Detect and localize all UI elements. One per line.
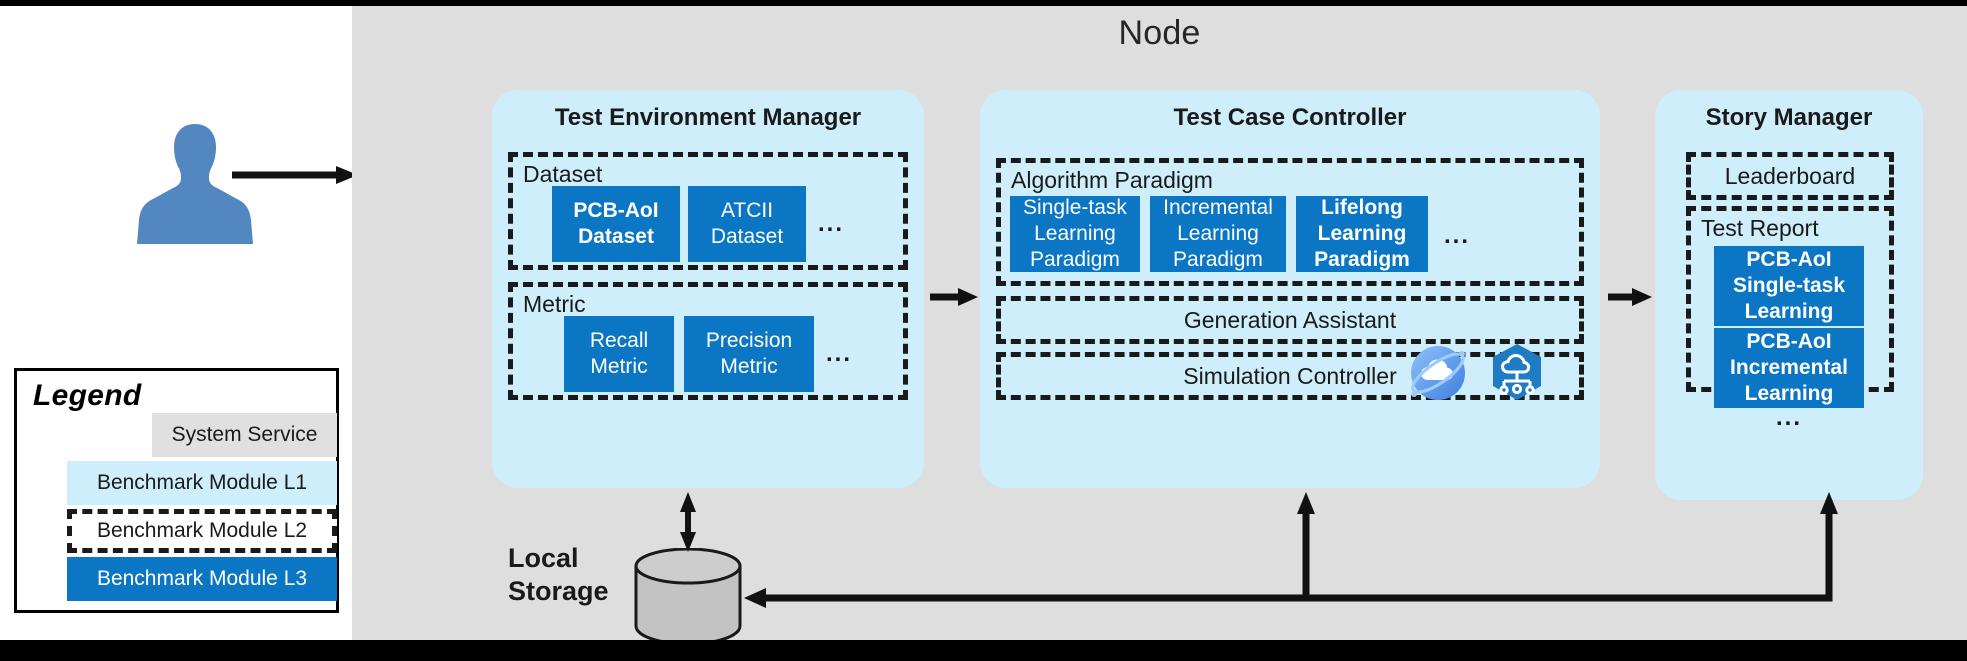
- legend-title: Legend: [33, 379, 141, 413]
- actor-panel-top-rule: [0, 0, 352, 6]
- user-to-node-arrow: [232, 165, 358, 185]
- module-test-case-controller[interactable]: Test Case Controller: [980, 90, 1600, 488]
- group-label: Dataset: [523, 161, 602, 188]
- legend-item-module-l2: Benchmark Module L2: [67, 509, 337, 553]
- group-label: Metric: [523, 291, 586, 318]
- chip-lifelong-learning-paradigm[interactable]: Lifelong Learning Paradigm: [1296, 196, 1428, 272]
- group-leaderboard[interactable]: Leaderboard: [1686, 152, 1894, 200]
- chip-incremental-learning-paradigm[interactable]: Incremental Learning Paradigm: [1150, 196, 1286, 272]
- chip-single-task-learning-paradigm[interactable]: Single-task Learning Paradigm: [1010, 196, 1140, 272]
- kubeedge-cloud-icon: [1408, 346, 1469, 400]
- legend-item-label: Benchmark Module L3: [97, 567, 307, 591]
- group-label: Leaderboard: [1691, 157, 1889, 195]
- local-storage-label-line2: Storage: [508, 575, 618, 608]
- local-storage-label: Local Storage: [508, 542, 618, 608]
- dataset-more-ellipsis: ...: [818, 210, 844, 238]
- node-title: Node: [352, 14, 1967, 53]
- legend-item-label: Benchmark Module L2: [97, 519, 307, 543]
- bottom-divider-rule: [0, 640, 1967, 661]
- legend-item-module-l3: Benchmark Module L3: [67, 557, 337, 601]
- metric-more-ellipsis: ...: [826, 340, 852, 368]
- architecture-diagram: Legend System Service Benchmark Module L…: [0, 0, 1967, 661]
- chip-precision-metric[interactable]: Precision Metric: [684, 316, 814, 392]
- legend-item-system-service: System Service: [152, 413, 337, 457]
- chip-recall-metric[interactable]: Recall Metric: [564, 316, 674, 392]
- group-label: Test Report: [1701, 215, 1819, 242]
- legend-item-label: Benchmark Module L1: [97, 471, 307, 495]
- legend-box: Legend System Service Benchmark Module L…: [14, 368, 339, 613]
- chip-pcb-aoi-incremental-learning[interactable]: PCB-AoI Incremental Learning: [1714, 328, 1864, 408]
- kubernetes-cloud-icon: [1493, 344, 1541, 400]
- group-generation-assistant[interactable]: Generation Assistant: [996, 296, 1584, 344]
- local-storage-label-line1: Local: [508, 542, 618, 575]
- chip-pcb-aoi-single-task-learning[interactable]: PCB-AoI Single-task Learning: [1714, 246, 1864, 326]
- legend-item-label: System Service: [172, 423, 318, 447]
- database-cylinder-icon: [632, 548, 744, 644]
- test-report-more-ellipsis: ...: [1776, 404, 1802, 432]
- legend-item-module-l1: Benchmark Module L1: [67, 461, 337, 505]
- group-label: Algorithm Paradigm: [1011, 167, 1213, 194]
- group-label: Generation Assistant: [1001, 301, 1579, 339]
- module-title: Test Case Controller: [980, 104, 1600, 132]
- algorithm-paradigm-more-ellipsis: ...: [1444, 222, 1470, 250]
- chip-pcb-aoi-dataset[interactable]: PCB-AoI Dataset: [552, 186, 680, 262]
- actor-panel: Legend System Service Benchmark Module L…: [0, 0, 352, 640]
- chip-atcii-dataset[interactable]: ATCII Dataset: [688, 186, 806, 262]
- module-title: Story Manager: [1655, 104, 1923, 132]
- simulation-controller-icons: [1404, 342, 1554, 404]
- module-title: Test Environment Manager: [492, 104, 924, 132]
